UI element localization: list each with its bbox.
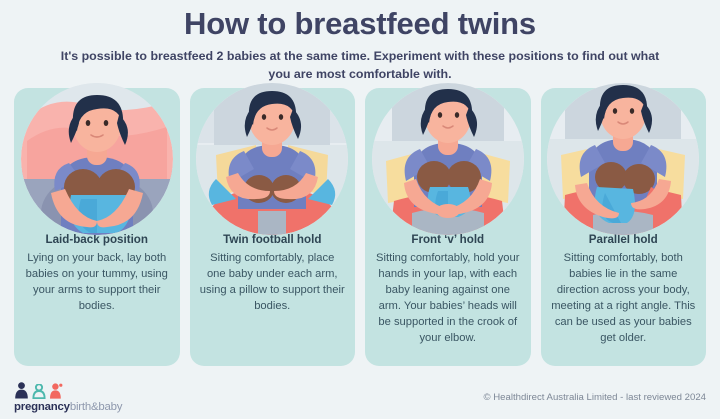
copyright-text: © Healthdirect Australia Limited - last … [483,392,706,403]
page-footer: pregnancybirth&baby © Healthdirect Austr… [0,375,720,419]
position-card-twin-football[interactable]: Twin football hold Sitting comfortably, … [190,88,356,366]
card-body: Sitting comfortably, hold your hands in … [365,251,531,346]
baby-figure-icon [49,383,63,399]
page-subtitle: It's possible to breastfeed 2 babies at … [50,48,670,84]
front-v-hold-illustration [372,83,524,235]
position-card-front-v[interactable]: Front ‘v’ hold Sitting comfortably, hold… [365,88,531,366]
position-card-list: Laid-back position Lying on your back, l… [14,88,706,366]
card-body: Sitting comfortably, both babies lie in … [541,251,707,346]
page-title: How to breastfeed twins [0,6,720,42]
laid-back-position-illustration [21,83,173,235]
logo-wordmark: pregnancybirth&baby [14,401,122,413]
logo-word-bold: pregnancy [14,401,70,413]
page-header: How to breastfeed twins It's possible to… [0,0,720,84]
parallel-hold-illustration [547,83,699,235]
pregnancy-birth-baby-logo[interactable]: pregnancybirth&baby [14,382,122,413]
twin-football-hold-illustration [196,83,348,235]
card-body: Sitting comfortably, place one baby unde… [190,251,356,315]
logo-figures [14,382,122,399]
child-figure-icon [32,384,46,399]
parent-figure-icon [14,382,29,399]
position-card-laid-back[interactable]: Laid-back position Lying on your back, l… [14,88,180,366]
position-card-parallel[interactable]: Parallel hold Sitting comfortably, both … [541,88,707,366]
card-body: Lying on your back, lay both babies on y… [14,251,180,315]
logo-word-light: birth&baby [70,401,122,413]
